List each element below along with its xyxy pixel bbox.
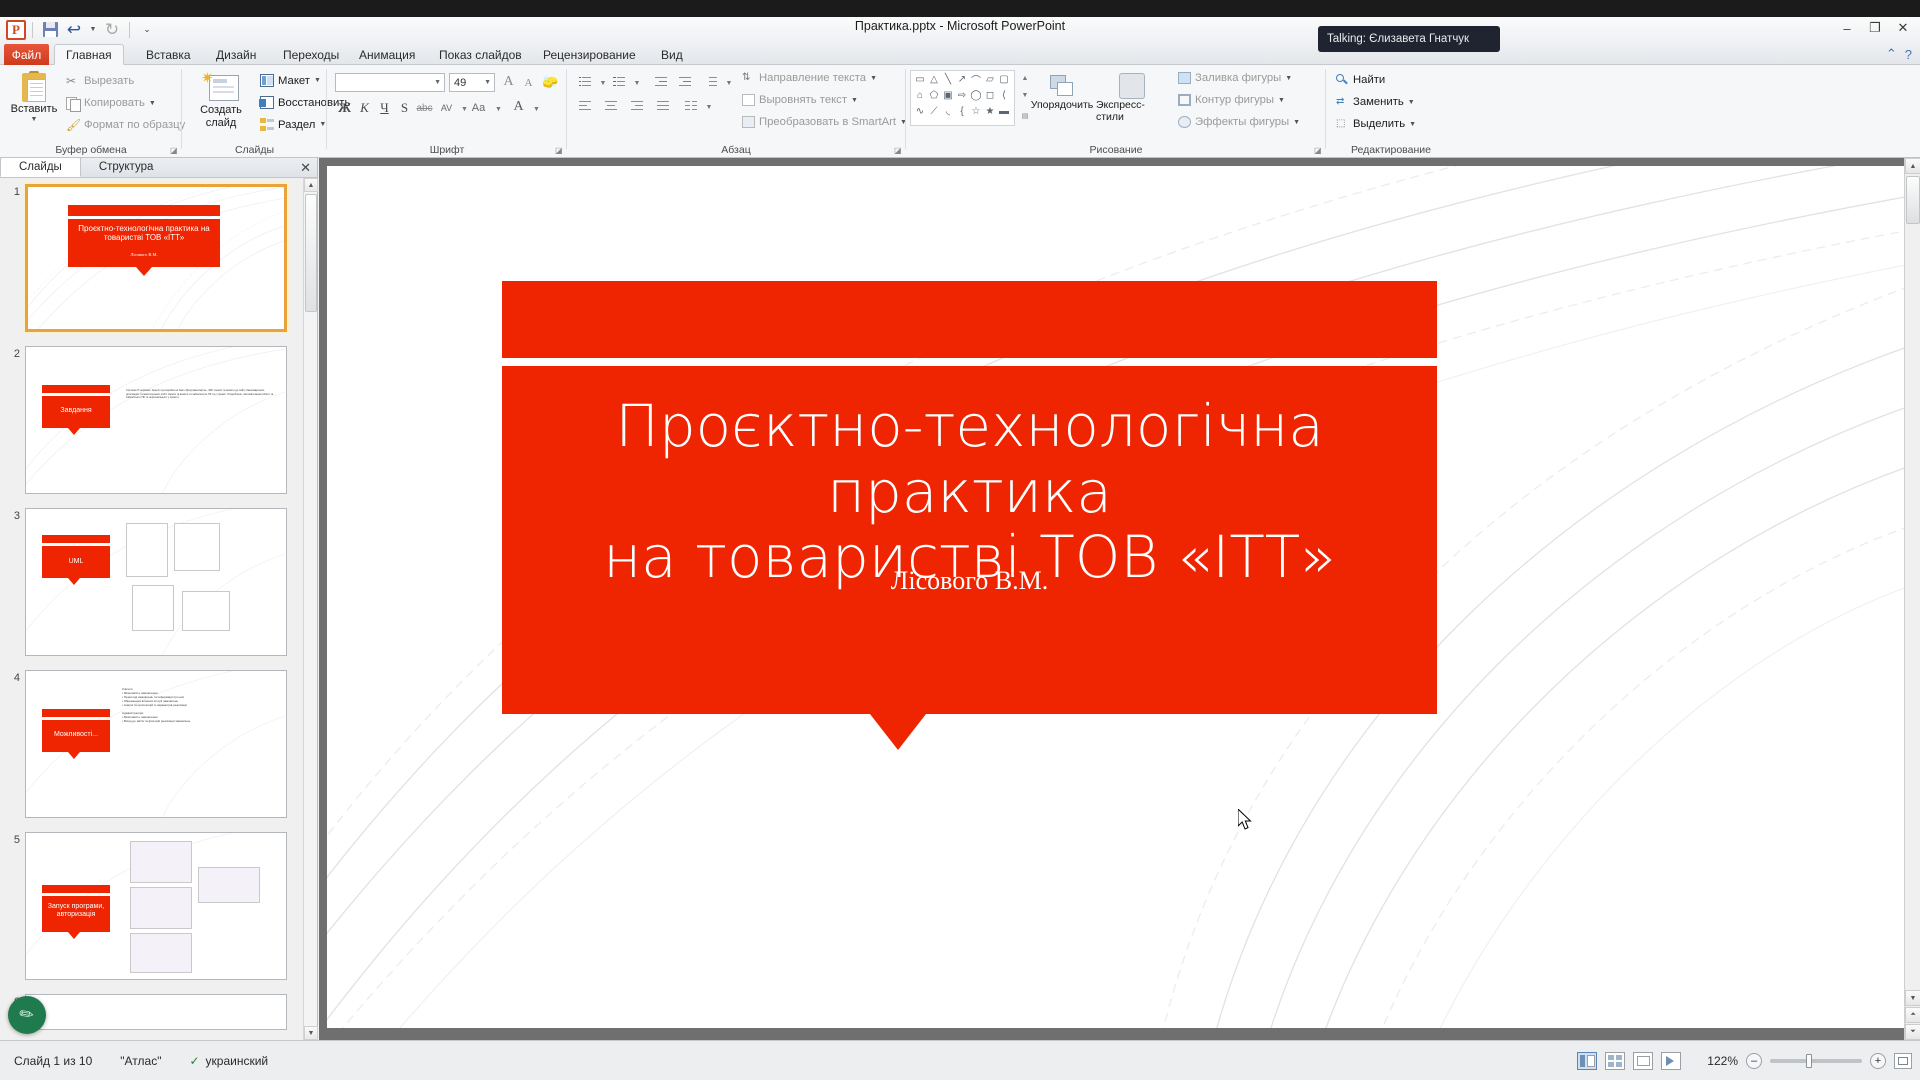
tab-transitions[interactable]: Переходы xyxy=(272,44,350,65)
shape-arrow-icon[interactable]: ↗ xyxy=(956,73,968,85)
thumb-bar-top xyxy=(42,885,110,893)
thumb-title: Запуск програми, авторизація xyxy=(44,903,108,918)
shape-arc-icon[interactable]: ◟ xyxy=(942,105,954,117)
convert-smartart-button[interactable]: Преобразовать в SmartArt ▼ xyxy=(742,116,907,128)
thumb-diagram-block xyxy=(126,523,168,577)
slide-canvas[interactable]: Проєктно-технологічна практика на товари… xyxy=(327,166,1910,1028)
change-case-dropdown-icon[interactable]: ▼ xyxy=(489,100,508,119)
status-right-tools: 122% – + xyxy=(1577,1052,1912,1070)
paste-dropdown-icon[interactable]: ▼ xyxy=(31,116,38,124)
panel-tab-slides[interactable]: Слайды xyxy=(0,157,81,177)
layout-label: Макет xyxy=(278,75,310,87)
format-painter-label: Формат по образцу xyxy=(84,119,185,131)
bold-button[interactable]: Ж xyxy=(335,98,354,117)
section-button[interactable]: Раздел ▼ xyxy=(260,118,326,131)
character-spacing-button[interactable]: AV xyxy=(437,98,456,117)
scrollbar-thumb[interactable] xyxy=(305,194,317,312)
reading-view-button[interactable] xyxy=(1633,1052,1653,1070)
tab-insert[interactable]: Вставка xyxy=(135,44,202,65)
align-text-label: Выровнять текст xyxy=(759,94,847,106)
thumb-bar-top xyxy=(68,205,220,216)
shape-outline-label: Контур фигуры xyxy=(1195,94,1274,106)
spellcheck-icon: ✓ xyxy=(189,1054,199,1068)
thumb-bar-top xyxy=(42,535,110,543)
font-dialog-launcher[interactable]: ◪ xyxy=(555,146,564,155)
align-text-icon xyxy=(742,94,755,106)
theme-name[interactable]: "Атлас" xyxy=(106,1054,175,1068)
convert-smartart-label: Преобразовать в SmartArt xyxy=(759,116,896,128)
list-item[interactable]: 1 Проєктно-технологічна п xyxy=(6,184,303,332)
cut-button[interactable]: ✂ Вырезать xyxy=(66,74,134,88)
powerpoint-window: P ↩ ▼ ↻ ⌄ Практика.pptx - Microsoft Powe… xyxy=(0,0,1920,1080)
italic-button[interactable]: К xyxy=(355,98,374,117)
window-title: Практика.pptx - Microsoft PowerPoint xyxy=(0,19,1920,33)
panel-close-icon[interactable]: ✕ xyxy=(300,160,311,176)
shape-effects-icon xyxy=(1178,116,1191,128)
slide-thumbnail-4[interactable]: Можливості... Клієнти • Можливість замов… xyxy=(25,670,287,818)
shape-cube-icon[interactable]: ◻ xyxy=(984,89,996,101)
scroll-down-icon[interactable]: ▼ xyxy=(1905,990,1920,1006)
columns-button[interactable] xyxy=(682,97,700,114)
title-banner-top[interactable] xyxy=(502,281,1437,358)
tab-file[interactable]: Файл xyxy=(4,44,49,65)
slide-thumbnail-5[interactable]: Запуск програми, авторизація xyxy=(25,832,287,980)
brush-icon: 🖌 xyxy=(66,118,80,132)
tab-review[interactable]: Рецензирование xyxy=(532,44,647,65)
thumb-title: Завдання xyxy=(44,407,108,415)
font-color-button[interactable]: A xyxy=(509,97,528,116)
slide-number: 2 xyxy=(6,346,20,360)
ribbon-group-clipboard: Вставить ▼ ✂ Вырезать Копировать ▼ 🖌 Фор… xyxy=(0,65,182,157)
select-label: Выделить xyxy=(1353,118,1405,130)
slide-title[interactable]: Проєктно-технологічна практика на товари… xyxy=(522,394,1417,591)
shape-outline-button[interactable]: Контур фигуры ▼ xyxy=(1178,94,1285,106)
smartart-icon xyxy=(742,116,755,128)
shape-fill-dropdown-icon[interactable]: ▼ xyxy=(1285,75,1292,82)
slide-edit-area: Проєктно-технологічна практика на товари… xyxy=(319,158,1920,1040)
fit-to-window-icon[interactable] xyxy=(1894,1053,1912,1069)
thumb-title: Можливості... xyxy=(44,731,108,739)
slide-number: 1 xyxy=(6,184,20,198)
panel-tab-outline[interactable]: Структура xyxy=(81,157,172,177)
shape-rounded-icon[interactable]: ▢ xyxy=(998,73,1010,85)
shape-outline-dropdown-icon[interactable]: ▼ xyxy=(1278,97,1285,104)
shape-right-arrow-icon[interactable]: ⇨ xyxy=(956,89,968,101)
text-direction-label: Направление текста xyxy=(759,72,866,84)
strikethrough-button[interactable]: abc xyxy=(415,99,434,118)
shape-effects-label: Эффекты фигуры xyxy=(1195,116,1289,128)
clear-formatting-icon[interactable]: 🧽 xyxy=(541,72,560,91)
minimize-button[interactable]: – xyxy=(1834,17,1860,39)
section-icon xyxy=(260,118,274,131)
increase-indent-button[interactable] xyxy=(676,73,694,90)
justify-icon xyxy=(657,101,669,111)
tab-design[interactable]: Дизайн xyxy=(205,44,267,65)
shape-curve-icon[interactable]: ⌒ xyxy=(970,73,982,85)
zoom-slider[interactable] xyxy=(1770,1059,1862,1063)
copy-icon xyxy=(66,96,80,110)
shape-circle-icon[interactable]: ◯ xyxy=(970,89,982,101)
text-direction-button[interactable]: ⇅ Направление текста ▼ xyxy=(742,72,877,84)
slide-sorter-button[interactable] xyxy=(1605,1052,1625,1070)
arrange-icon xyxy=(1048,73,1076,99)
group-label-slides: Слайды xyxy=(182,144,327,156)
group-label-editing: Редактирование xyxy=(1326,144,1456,156)
font-name-dropdown-icon[interactable]: ▼ xyxy=(434,79,441,86)
shape-freeform-icon[interactable]: ⟋ xyxy=(928,105,940,117)
thumb-bar-top xyxy=(42,709,110,717)
align-text-dropdown-icon[interactable]: ▼ xyxy=(851,97,858,104)
shape-fill-icon xyxy=(1178,72,1191,84)
thumb-title: UML xyxy=(44,558,108,566)
find-button[interactable]: Найти xyxy=(1336,74,1385,86)
thumb-dialog xyxy=(130,841,192,883)
font-size-input[interactable]: 49 ▼ xyxy=(449,73,495,92)
shape-rect-icon[interactable]: ▭ xyxy=(914,73,926,85)
thumb-body: Система ІТ-компанії. Аналіз та розробка … xyxy=(126,389,274,400)
group-label-drawing: Рисование xyxy=(906,144,1326,156)
thumb-bar-top xyxy=(42,385,110,393)
increase-indent-icon xyxy=(679,77,691,87)
shape-star5-icon[interactable]: ★ xyxy=(984,105,996,117)
shape-line-icon[interactable]: ╲ xyxy=(942,73,954,85)
slide-number: 5 xyxy=(6,832,20,846)
line-spacing-dropdown-icon[interactable]: ▼ xyxy=(720,75,738,92)
title-bar xyxy=(0,0,1920,17)
ribbon-group-drawing: ▭ △ ╲ ↗ ⌒ ▱ ▢ ⌂ ⬠ ▣ ⇨ ◯ ◻ ⟨ xyxy=(906,65,1326,157)
align-center-icon xyxy=(605,101,617,111)
thumb-dialog xyxy=(130,887,192,929)
bullets-icon xyxy=(579,77,591,87)
reset-icon xyxy=(260,96,274,109)
zoom-slider-handle[interactable] xyxy=(1806,1054,1812,1068)
next-slide-icon[interactable]: ⏷ xyxy=(1905,1024,1920,1040)
quick-styles-icon xyxy=(1119,73,1145,99)
thumb-dialog xyxy=(198,867,260,903)
shape-triangle-icon[interactable]: △ xyxy=(928,73,940,85)
shape-effects-button[interactable]: Эффекты фигуры ▼ xyxy=(1178,116,1300,128)
numbering-icon xyxy=(613,77,625,87)
talking-notification: Talking: Єлизавета Гнатчук xyxy=(1318,26,1500,52)
align-right-icon xyxy=(631,101,643,111)
replace-button[interactable]: ⇄ Заменить ▼ xyxy=(1336,96,1415,108)
font-size-value: 49 xyxy=(454,77,466,89)
justify-button[interactable] xyxy=(654,97,672,114)
increase-font-size-button[interactable]: A xyxy=(499,72,518,91)
change-case-button[interactable]: Aa xyxy=(469,98,488,117)
restore-button[interactable]: ❐ xyxy=(1862,17,1888,39)
columns-dropdown-icon[interactable]: ▼ xyxy=(700,99,718,116)
ribbon-group-font: ▼ 49 ▼ A A 🧽 Ж К Ч S abc AV ▼ Aa ▼ A ▼ Ш… xyxy=(327,65,567,157)
replace-icon: ⇄ xyxy=(1336,96,1349,108)
tab-animations[interactable]: Анимация xyxy=(348,44,426,65)
new-slide-button[interactable]: ✷ Создать слайд xyxy=(190,71,252,129)
text-direction-dropdown-icon[interactable]: ▼ xyxy=(870,75,877,82)
select-dropdown-icon[interactable]: ▼ xyxy=(1409,121,1416,128)
shape-fill-label: Заливка фигуры xyxy=(1195,72,1281,84)
ribbon-tab-bar: Файл Главная Вставка Дизайн Переходы Ани… xyxy=(0,44,1920,65)
group-label-clipboard: Буфер обмена xyxy=(0,144,182,156)
shape-outline-icon xyxy=(1178,94,1191,106)
slide-thumbnail-list: 1 Проєктно-технологічна п xyxy=(0,178,303,1040)
minimize-ribbon-icon[interactable]: ⌃ xyxy=(1886,46,1897,62)
thumb-tail xyxy=(68,752,80,759)
tab-view[interactable]: Вид xyxy=(650,44,694,65)
copy-button[interactable]: Копировать ▼ xyxy=(66,96,156,110)
font-name-input[interactable]: ▼ xyxy=(335,73,445,92)
previous-slide-icon[interactable]: ⏶ xyxy=(1905,1007,1920,1023)
slide-counter[interactable]: Слайд 1 из 10 xyxy=(0,1054,106,1068)
shape-banner-icon[interactable]: ▬ xyxy=(998,105,1010,117)
list-item[interactable]: 6 xyxy=(6,994,303,1030)
language-indicator[interactable]: ✓ украинский xyxy=(175,1054,282,1068)
copy-label: Копировать xyxy=(84,97,145,109)
search-icon xyxy=(1336,74,1349,86)
thumb-diagram-block xyxy=(174,523,220,571)
align-left-icon xyxy=(579,101,591,111)
window-controls: – ❐ ✕ xyxy=(1834,17,1916,39)
normal-view-button[interactable] xyxy=(1577,1052,1597,1070)
new-slide-label: Создать слайд xyxy=(190,104,252,129)
scissors-icon: ✂ xyxy=(66,74,80,88)
slide-number: 3 xyxy=(6,508,20,522)
ribbon-group-paragraph: ▼ ▼ ▼ xyxy=(566,65,906,157)
help-icon[interactable]: ? xyxy=(1905,47,1912,62)
drawing-dialog-launcher[interactable]: ◪ xyxy=(1314,146,1323,155)
scrollbar-thumb[interactable] xyxy=(1906,176,1920,224)
scroll-up-icon[interactable]: ▲ xyxy=(304,178,318,192)
cut-label: Вырезать xyxy=(84,75,134,87)
thumb-dialog xyxy=(130,933,192,973)
align-center-button[interactable] xyxy=(602,97,620,114)
slide-thumbnail-2[interactable]: Завдання Система ІТ-компанії. Аналіз та … xyxy=(25,346,287,494)
title-banner-tail xyxy=(870,714,926,750)
copy-dropdown-icon[interactable]: ▼ xyxy=(149,100,156,107)
replace-dropdown-icon[interactable]: ▼ xyxy=(1408,99,1415,106)
arrange-button[interactable]: Упорядочить xyxy=(1032,73,1092,111)
align-left-button[interactable] xyxy=(576,97,594,114)
thumb-title: Проєктно-технологічна практика на товари… xyxy=(72,225,216,243)
slide-subtitle[interactable]: Лісового В.М. xyxy=(522,566,1417,596)
panel-scrollbar[interactable]: ▲ ▼ xyxy=(303,178,317,1040)
shape-curve2-icon[interactable]: ∿ xyxy=(914,105,926,117)
thumb-diagram-block xyxy=(182,591,230,631)
shape-effects-dropdown-icon[interactable]: ▼ xyxy=(1293,119,1300,126)
quick-styles-button[interactable]: Экспресс-стили xyxy=(1096,73,1168,123)
slide-number: 4 xyxy=(6,670,20,684)
decrease-indent-icon xyxy=(655,77,667,87)
clipboard-dialog-launcher[interactable]: ◪ xyxy=(170,146,179,155)
decrease-font-size-button[interactable]: A xyxy=(519,73,538,92)
numbering-dropdown-icon[interactable]: ▼ xyxy=(628,75,646,92)
ink-pen-button[interactable]: ✎ xyxy=(8,996,46,1034)
layout-dropdown-icon[interactable]: ▼ xyxy=(314,77,321,84)
font-color-dropdown-icon[interactable]: ▼ xyxy=(527,100,546,119)
close-button[interactable]: ✕ xyxy=(1890,17,1916,39)
text-shadow-button[interactable]: S xyxy=(395,98,414,117)
panel-tab-bar: Слайды Структура ✕ xyxy=(0,158,317,178)
pen-icon: ✎ xyxy=(15,1003,38,1028)
list-item[interactable]: 5 Запуск програми, авторизація xyxy=(6,832,303,980)
paragraph-dialog-launcher[interactable]: ◪ xyxy=(894,146,903,155)
zoom-level-label[interactable]: 122% xyxy=(1707,1054,1738,1068)
thumb-tail xyxy=(68,932,80,939)
new-slide-icon: ✷ xyxy=(201,71,241,104)
paste-button[interactable]: Вставить ▼ xyxy=(6,71,62,124)
numbering-button[interactable] xyxy=(610,73,628,90)
shape-bracket-icon[interactable]: ⟨ xyxy=(998,89,1010,101)
shapes-gallery[interactable]: ▭ △ ╲ ↗ ⌒ ▱ ▢ ⌂ ⬠ ▣ ⇨ ◯ ◻ ⟨ xyxy=(910,70,1015,126)
ribbon: Вставить ▼ ✂ Вырезать Копировать ▼ 🖌 Фор… xyxy=(0,65,1920,158)
line-spacing-icon xyxy=(705,77,717,87)
thumb-tail xyxy=(68,578,80,585)
align-text-button[interactable]: Выровнять текст ▼ xyxy=(742,94,858,106)
list-item[interactable]: 3 UML xyxy=(6,508,303,656)
font-size-dropdown-icon[interactable]: ▼ xyxy=(484,79,491,86)
columns-icon xyxy=(685,101,697,111)
select-icon: ⬚ xyxy=(1336,118,1349,130)
tab-slideshow[interactable]: Показ слайдов xyxy=(428,44,533,65)
slide-title-line1: Проєктно-технологічна практика xyxy=(522,394,1417,525)
underline-button[interactable]: Ч xyxy=(375,98,394,117)
group-label-paragraph: Абзац xyxy=(566,144,906,156)
thumb-tail xyxy=(68,428,80,435)
shape-star-icon[interactable]: ☆ xyxy=(970,105,982,117)
select-button[interactable]: ⬚ Выделить ▼ xyxy=(1336,118,1416,130)
ribbon-group-slides: ✷ Создать слайд Макет ▼ Восстановить Раз… xyxy=(182,65,327,157)
shape-pentagon-icon[interactable]: ⬠ xyxy=(928,89,940,101)
shape-callout-icon[interactable]: ▱ xyxy=(984,73,996,85)
zoom-out-button[interactable]: – xyxy=(1746,1053,1762,1069)
slide-navigation-panel: Слайды Структура ✕ 1 xyxy=(0,158,318,1040)
slide-thumbnail-3[interactable]: UML xyxy=(25,508,287,656)
replace-label: Заменить xyxy=(1353,96,1404,108)
zoom-in-button[interactable]: + xyxy=(1870,1053,1886,1069)
slide-thumbnail-6[interactable] xyxy=(25,994,287,1030)
layout-button[interactable]: Макет ▼ xyxy=(260,74,321,87)
paste-icon xyxy=(19,71,49,103)
shape-brace-icon[interactable]: { xyxy=(956,105,968,117)
status-bar: Слайд 1 из 10 "Атлас" ✓ украинский 122% … xyxy=(0,1040,1920,1080)
bullets-button[interactable] xyxy=(576,73,594,90)
layout-icon xyxy=(260,74,274,87)
language-label: украинский xyxy=(206,1054,269,1068)
arrange-label: Упорядочить xyxy=(1031,99,1093,111)
slide-thumbnail-1[interactable]: Проєктно-технологічна практика на товари… xyxy=(25,184,287,332)
decrease-indent-button[interactable] xyxy=(652,73,670,90)
tab-home[interactable]: Главная xyxy=(54,44,124,65)
text-direction-icon: ⇅ xyxy=(742,72,755,84)
section-label: Раздел xyxy=(278,119,315,131)
paste-label: Вставить xyxy=(11,103,58,116)
scroll-down-icon[interactable]: ▼ xyxy=(304,1026,318,1040)
list-item[interactable]: 4 Можливості... Клієнти • Можливість зам… xyxy=(6,670,303,818)
format-painter-button[interactable]: 🖌 Формат по образцу xyxy=(66,118,185,132)
slide-vertical-scrollbar[interactable]: ▲ ▼ ⏶ ⏷ xyxy=(1904,158,1920,1040)
find-label: Найти xyxy=(1353,74,1385,86)
ribbon-group-editing: Найти ⇄ Заменить ▼ ⬚ Выделить ▼ Редактир… xyxy=(1326,65,1456,157)
thumb-subtitle: Лісового В.М. xyxy=(72,253,216,258)
shape-chevron-icon[interactable]: ⌂ xyxy=(914,89,926,101)
shape-box-icon[interactable]: ▣ xyxy=(942,89,954,101)
align-right-button[interactable] xyxy=(628,97,646,114)
shape-fill-button[interactable]: Заливка фигуры ▼ xyxy=(1178,72,1292,84)
quick-styles-label: Экспресс-стили xyxy=(1096,99,1168,123)
thumb-diagram-block xyxy=(132,585,174,631)
slideshow-button[interactable] xyxy=(1661,1052,1681,1070)
line-spacing-button[interactable] xyxy=(702,73,720,90)
scroll-up-icon[interactable]: ▲ xyxy=(1905,158,1920,174)
list-item[interactable]: 2 Завдання Система ІТ-компанії. Аналіз т… xyxy=(6,346,303,494)
group-label-font: Шрифт xyxy=(327,144,567,156)
thumb-tail xyxy=(136,267,152,276)
thumb-body: Клієнти • Можливість замовлення • Перегл… xyxy=(122,687,272,723)
